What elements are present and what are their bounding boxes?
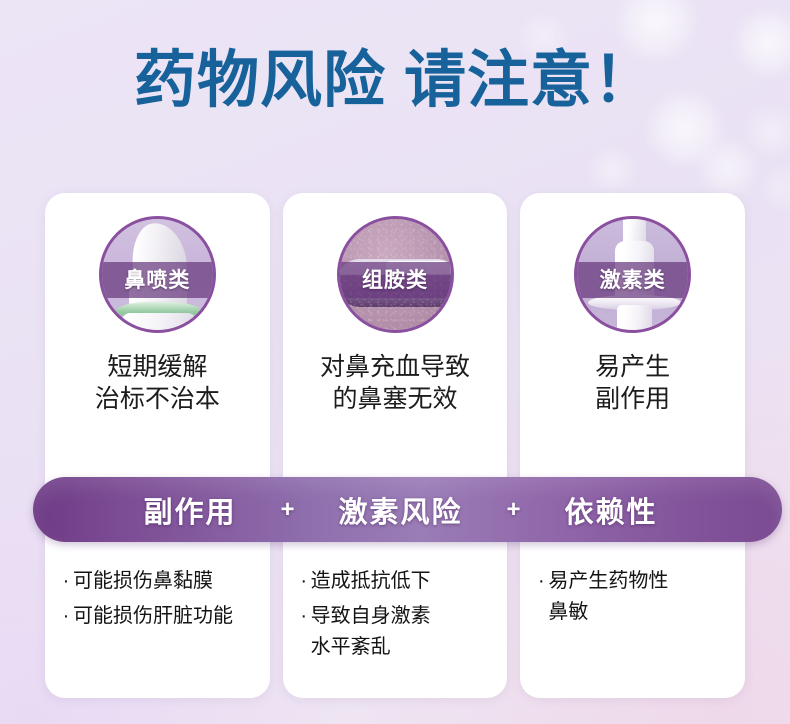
thumbnail-nasal-spray: 鼻喷类 — [99, 216, 216, 333]
risk-item-dependency: 依赖性 — [565, 489, 658, 531]
list-item: · 可能损伤肝脏功能 — [59, 601, 260, 632]
headline-line-1: 对鼻充血导致 — [320, 351, 470, 383]
headline-line-2: 副作用 — [595, 383, 670, 415]
list-item: · 可能损伤鼻黏膜 — [59, 566, 260, 597]
bullet-dot-icon: · — [534, 566, 548, 597]
card-headline-antihistamine: 对鼻充血导致 的鼻塞无效 — [312, 351, 478, 415]
list-item: · 导致自身激素 水平紊乱 — [297, 601, 498, 663]
bokeh-light-4 — [700, 140, 756, 196]
drug-category-card-list: 鼻喷类 短期缓解 治标不治本 · 可能损伤鼻黏膜 · 可能损伤肝脏功能 — [45, 193, 745, 698]
bullet-text: 导致自身激素 水平紊乱 — [311, 601, 498, 663]
plus-separator-2: + — [507, 496, 521, 524]
bullet-list-steroid: · 易产生药物性 鼻敏 — [534, 566, 735, 632]
headline-line-1: 短期缓解 — [95, 351, 220, 383]
bullet-text: 易产生药物性 鼻敏 — [548, 566, 735, 628]
badge-label: 鼻喷类 — [124, 270, 190, 291]
bullet-dot-icon: · — [297, 601, 311, 632]
badge-label: 组胺类 — [362, 270, 428, 291]
card-nasal-spray[interactable]: 鼻喷类 短期缓解 治标不治本 · 可能损伤鼻黏膜 · 可能损伤肝脏功能 — [45, 193, 270, 698]
bullet-text-line-1: 易产生药物性 — [548, 570, 668, 592]
bullet-list-antihistamine: · 造成抵抗低下 · 导致自身激素 水平紊乱 — [297, 566, 498, 667]
bokeh-light-5 — [592, 150, 632, 190]
page-title-part2: 请注意！ — [404, 46, 656, 115]
risk-item-side-effects: 副作用 — [143, 489, 236, 531]
bullet-dot-icon: · — [297, 566, 311, 597]
card-antihistamine[interactable]: 组胺类 对鼻充血导致 的鼻塞无效 · 造成抵抗低下 · 导致自身激素 水平紊乱 — [283, 193, 508, 698]
list-item: · 造成抵抗低下 — [297, 566, 498, 597]
bullet-text-line-2: 水平紊乱 — [311, 632, 498, 663]
page-title: 药物风险请注意！ — [0, 44, 790, 118]
badge-antihistamine: 组胺类 — [337, 262, 454, 298]
bottle-stem-shape — [617, 305, 652, 333]
risk-summary-band: 副作用 + 激素风险 + 依赖性 — [33, 477, 782, 542]
risk-item-hormone-risk: 激素风险 — [338, 489, 462, 531]
thumbnail-antihistamine: 组胺类 — [337, 216, 454, 333]
badge-label: 激素类 — [600, 270, 666, 291]
bullet-text: 可能损伤鼻黏膜 — [73, 566, 260, 597]
bullet-dot-icon: · — [59, 566, 73, 597]
plus-separator-1: + — [280, 496, 294, 524]
bullet-text: 可能损伤肝脏功能 — [73, 601, 260, 632]
card-headline-steroid: 易产生 副作用 — [587, 351, 678, 415]
headline-line-1: 易产生 — [595, 351, 670, 383]
badge-steroid: 激素类 — [574, 262, 691, 298]
thumbnail-steroid: 激素类 — [574, 216, 691, 333]
bullet-text-line-2: 鼻敏 — [548, 597, 735, 628]
card-headline-nasal-spray: 短期缓解 治标不治本 — [87, 351, 228, 415]
bullet-dot-icon: · — [59, 601, 73, 632]
spray-base-shape — [122, 313, 196, 333]
badge-nasal-spray: 鼻喷类 — [99, 262, 216, 298]
bullet-list-nasal-spray: · 可能损伤鼻黏膜 · 可能损伤肝脏功能 — [59, 566, 260, 636]
headline-line-2: 的鼻塞无效 — [320, 383, 470, 415]
list-item: · 易产生药物性 鼻敏 — [534, 566, 735, 628]
bullet-text: 造成抵抗低下 — [311, 566, 498, 597]
headline-line-2: 治标不治本 — [95, 383, 220, 415]
page-title-part1: 药物风险 — [134, 46, 386, 115]
bullet-text-line-1: 导致自身激素 — [311, 605, 431, 627]
card-steroid[interactable]: 激素类 易产生 副作用 · 易产生药物性 鼻敏 — [520, 193, 745, 698]
